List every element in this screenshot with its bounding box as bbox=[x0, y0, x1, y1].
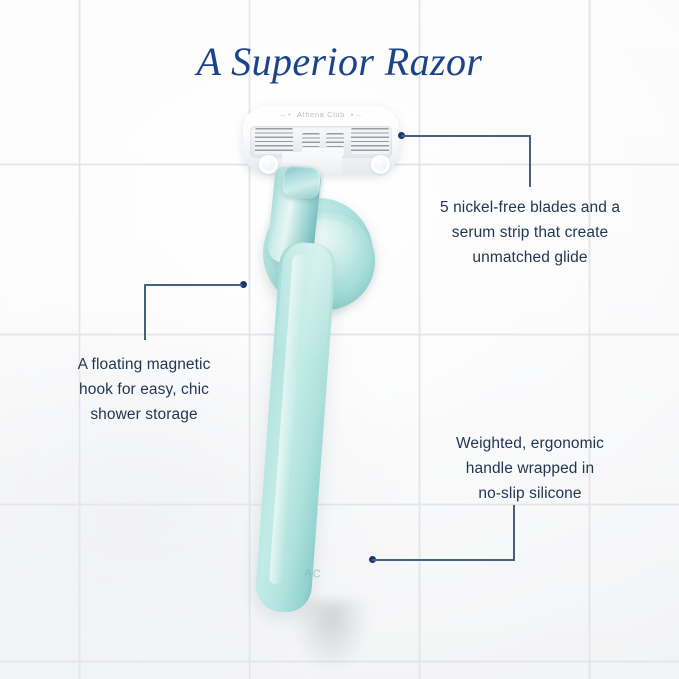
tile-wall-background bbox=[0, 0, 679, 679]
leader-line-hook bbox=[144, 284, 248, 354]
callout-blades-line-3: unmatched glide bbox=[408, 245, 652, 270]
blade-group-right bbox=[351, 128, 389, 154]
grout-line-vertical bbox=[248, 0, 251, 679]
callout-handle: Weighted, ergonomic handle wrapped in no… bbox=[408, 431, 652, 506]
cartridge-release-button bbox=[282, 165, 321, 200]
callout-hook-line-2: hook for easy, chic bbox=[22, 377, 266, 402]
callout-blades-line-2: serum strip that create bbox=[408, 220, 652, 245]
callout-blades: 5 nickel-free blades and a serum strip t… bbox=[408, 195, 652, 270]
leader-segment-vertical bbox=[144, 284, 146, 340]
blade-group-center-left bbox=[302, 133, 320, 147]
page-title: A Superior Razor bbox=[0, 38, 679, 85]
leader-segment-horizontal bbox=[401, 135, 531, 137]
blade-group-left bbox=[255, 128, 293, 154]
leader-segment-vertical bbox=[529, 135, 531, 187]
leader-segment-horizontal bbox=[144, 284, 242, 286]
brand-dash-left: – ▪ bbox=[281, 110, 292, 119]
callout-hook: A floating magnetic hook for easy, chic … bbox=[22, 352, 266, 427]
cartridge-post-right bbox=[371, 155, 390, 174]
grout-line-horizontal bbox=[0, 333, 679, 336]
leader-segment-vertical bbox=[513, 505, 515, 560]
handle-drop-shadow bbox=[295, 600, 367, 670]
callout-hook-line-3: shower storage bbox=[22, 402, 266, 427]
callout-blades-line-1: 5 nickel-free blades and a bbox=[408, 195, 652, 220]
callout-handle-line-1: Weighted, ergonomic bbox=[408, 431, 652, 456]
leader-line-handle bbox=[369, 559, 519, 629]
razor-head-brand-label: – ▪ Athena Club ▪ – bbox=[243, 110, 399, 119]
grout-line-vertical bbox=[78, 0, 81, 679]
blade-stack bbox=[250, 128, 392, 154]
grout-line-vertical bbox=[588, 0, 591, 679]
callout-handle-line-3: no-slip silicone bbox=[408, 481, 652, 506]
blade-group-center-right bbox=[326, 133, 344, 147]
tile-shading bbox=[0, 0, 679, 679]
callout-handle-line-2: handle wrapped in bbox=[408, 456, 652, 481]
callout-hook-line-1: A floating magnetic bbox=[22, 352, 266, 377]
product-infographic: A Superior Razor – ▪ Athena Club ▪ – AC … bbox=[0, 0, 679, 679]
leader-segment-horizontal bbox=[372, 559, 515, 561]
brand-name-text: Athena Club bbox=[294, 110, 348, 119]
brand-dash-right: ▪ – bbox=[351, 110, 362, 119]
